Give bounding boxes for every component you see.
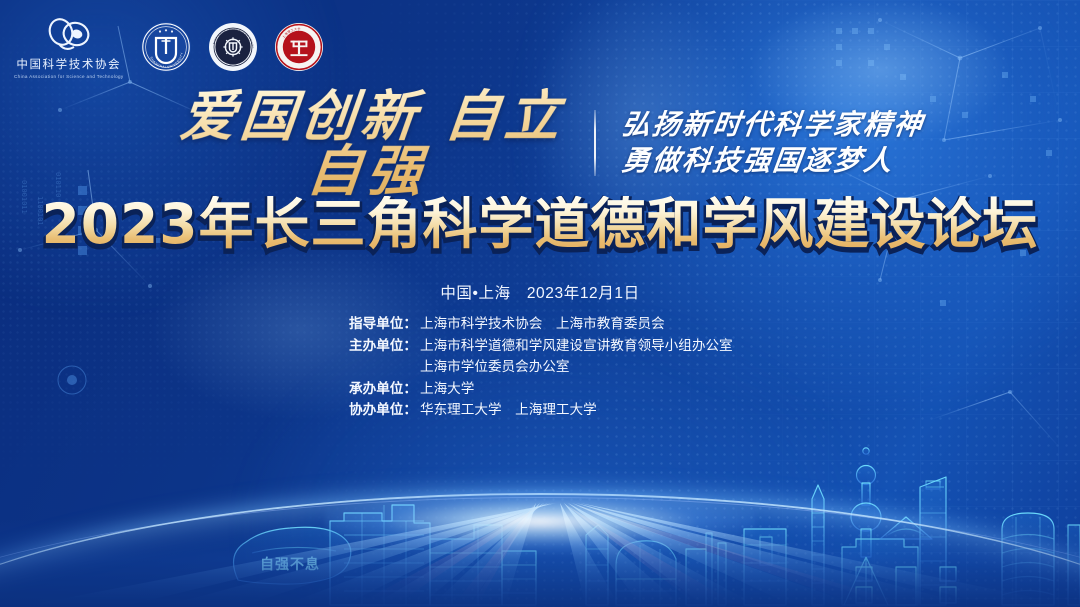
slogan-line-1: 弘扬新时代科学家精神 <box>620 107 926 143</box>
forum-poster: 01001011 1100101 010110 <box>0 0 1080 607</box>
organizer-label: 承办单位： <box>333 378 417 400</box>
slogan-divider <box>594 110 596 176</box>
organizer-label: 指导单位： <box>333 313 417 335</box>
organizer-value: 上海大学 <box>417 378 747 400</box>
organizer-row: 协办单位： 华东理工大学 上海理工大学 <box>0 399 1080 421</box>
organizer-row: 主办单位： 上海市科学道德和学风建设宣讲教育领导小组办公室 <box>0 335 1080 357</box>
organizer-label: 主办单位： <box>333 335 417 357</box>
forum-title-text: 2023年长三角科学道德和学风建设论坛 <box>0 196 1080 254</box>
slogan-scientist-spirit: 弘扬新时代科学家精神 勇做科技强国逐梦人 <box>622 107 924 179</box>
cast-name-en: China Association for Science and Techno… <box>14 74 124 79</box>
organizer-label <box>333 356 417 378</box>
organizer-value: 华东理工大学 上海理工大学 <box>417 399 747 421</box>
slogan-row: 爱国创新 自立自强 弘扬新时代科学家精神 勇做科技强国逐梦人 <box>0 104 1080 182</box>
organizer-value: 上海市学位委员会办公室 <box>417 356 747 378</box>
logo-university-shanghai-science-technology: 上海理工大学 <box>274 22 324 72</box>
cast-name-cn: 中国科学技术协会 <box>16 56 121 72</box>
organizer-list: 指导单位： 上海市科学技术协会 上海市教育委员会 主办单位： 上海市科学道德和学… <box>0 313 1080 421</box>
slogan-line-2: 勇做科技强国逐梦人 <box>620 143 926 179</box>
organizer-value: 上海市科学技术协会 上海市教育委员会 <box>417 313 747 335</box>
horizon-light-effect <box>0 467 1080 607</box>
organizer-row: 承办单位： 上海大学 <box>0 378 1080 400</box>
organizer-value: 上海市科学道德和学风建设宣讲教育领导小组办公室 <box>417 335 747 357</box>
organizer-row: 指导单位： 上海市科学技术协会 上海市教育委员会 <box>0 313 1080 335</box>
organizer-label: 协办单位： <box>333 399 417 421</box>
logo-china-association-science-technology: 中国科学技术协会 China Association for Science a… <box>14 14 124 79</box>
forum-title: 2023年长三角科学道德和学风建设论坛 2023年长三角科学道德和学风建设论坛 <box>0 196 1080 254</box>
organizer-row: 上海市学位委员会办公室 <box>0 356 1080 378</box>
logo-east-china-university-science-technology: EAST CHINA UNIVERSITY OF SCIENCE AND TEC… <box>208 22 258 72</box>
cast-emblem-icon <box>41 14 97 54</box>
horizon-base-gradient <box>0 519 1080 607</box>
logo-shanghai-university: SHANGHAI UNIVERSITY <box>140 21 192 73</box>
slogan-patriotic-innovation: 爱国创新 自立自强 <box>150 88 582 198</box>
location-date: 中国•上海 2023年12月1日 <box>0 281 1080 303</box>
sponsor-logo-bar: 中国科学技术协会 China Association for Science a… <box>14 14 324 79</box>
